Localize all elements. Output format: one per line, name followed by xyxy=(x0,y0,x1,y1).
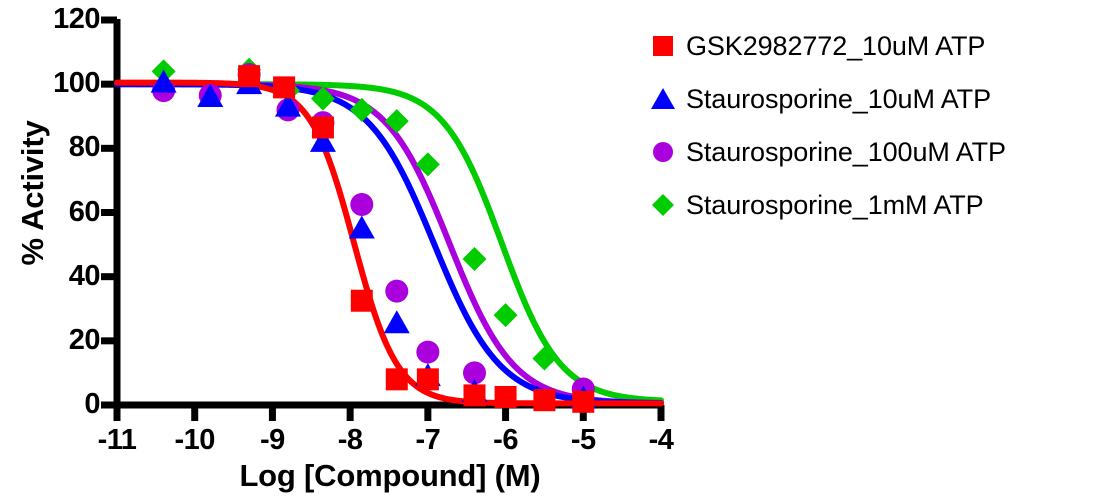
legend-item[interactable]: GSK2982772_10uM ATP xyxy=(640,22,1096,70)
data-point-square xyxy=(463,384,485,406)
x-tick-label: -10 xyxy=(165,426,225,455)
square-marker-icon xyxy=(648,31,678,61)
data-point-diamond xyxy=(494,303,518,327)
legend-item[interactable]: Staurosporine_10uM ATP xyxy=(640,75,1096,123)
y-tick-label: 0 xyxy=(14,390,100,419)
y-tick-label: 120 xyxy=(14,5,100,34)
legend-marker xyxy=(640,190,686,220)
legend-label: Staurosporine_10uM ATP xyxy=(686,84,991,115)
data-point-square xyxy=(495,386,517,408)
data-point-diamond xyxy=(462,247,486,271)
y-tick-label: 100 xyxy=(14,69,100,98)
x-tick-label: -6 xyxy=(476,426,536,455)
legend-label: Staurosporine_100uM ATP xyxy=(686,137,1006,168)
data-point-square xyxy=(386,368,408,390)
data-point-square xyxy=(238,65,260,87)
x-tick-label: -5 xyxy=(553,426,613,455)
legend-marker xyxy=(640,84,686,114)
x-tick-label: -7 xyxy=(398,426,458,455)
data-point-square xyxy=(273,76,295,98)
triangle-marker-icon xyxy=(648,84,678,114)
data-point-square xyxy=(417,368,439,390)
legend-marker xyxy=(640,31,686,61)
data-point-square xyxy=(533,389,555,411)
y-tick-label: 20 xyxy=(14,326,100,355)
data-point-square xyxy=(351,290,373,312)
data-point-circle xyxy=(416,341,439,364)
legend-label: Staurosporine_1mM ATP xyxy=(686,190,984,221)
chart-figure: 020406080100120 -11-10-9-8-7-6-5-4 % Act… xyxy=(0,0,1096,504)
x-axis-title: Log [Compound] (M) xyxy=(110,458,670,494)
chart-legend: GSK2982772_10uM ATPStaurosporine_10uM AT… xyxy=(640,22,1096,234)
data-point-square xyxy=(312,116,334,138)
data-point-circle xyxy=(350,193,373,216)
legend-item[interactable]: Staurosporine_1mM ATP xyxy=(640,181,1096,229)
x-tick-label: -9 xyxy=(242,426,302,455)
x-tick-label: -11 xyxy=(87,426,147,455)
plot-area: 020406080100120 -11-10-9-8-7-6-5-4 % Act… xyxy=(0,0,700,504)
legend-marker xyxy=(640,137,686,167)
x-tick-label: -8 xyxy=(320,426,380,455)
legend-label: GSK2982772_10uM ATP xyxy=(686,31,985,62)
circle-marker-icon xyxy=(648,137,678,167)
x-tick-label: -4 xyxy=(631,426,691,455)
legend-item[interactable]: Staurosporine_100uM ATP xyxy=(640,128,1096,176)
data-point-circle xyxy=(385,280,408,303)
data-point-square xyxy=(572,391,594,413)
diamond-marker-icon xyxy=(648,190,678,220)
data-point-triangle xyxy=(384,310,410,333)
y-axis-title: % Activity xyxy=(15,98,51,288)
